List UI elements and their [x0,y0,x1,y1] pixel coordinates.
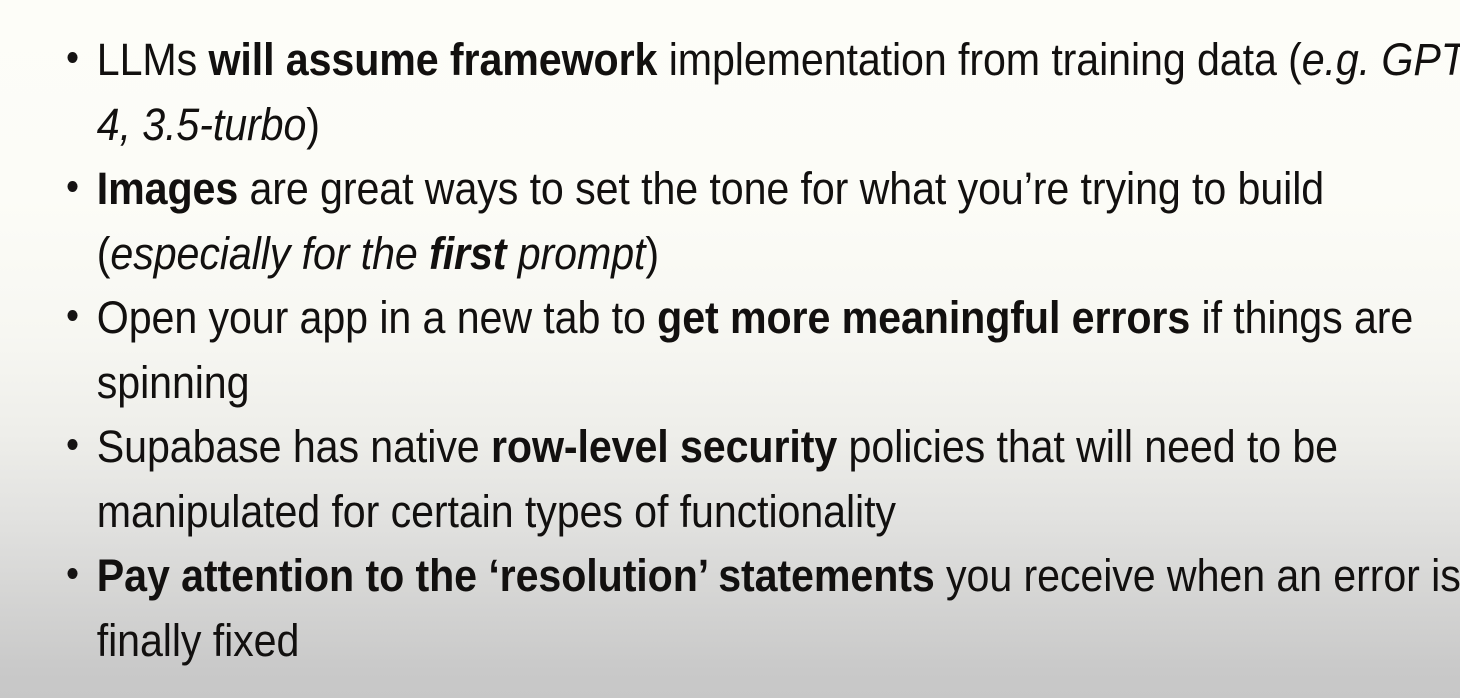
bullet-open-app-new-tab: Open your app in a new tab to get more m… [62,286,1460,415]
bullet-text: Pay attention to the ‘resolution’ statem… [97,550,1460,666]
bullet-resolution-statements: Pay attention to the ‘resolution’ statem… [62,544,1460,673]
text-run: LLMs [97,34,209,85]
bullet-dot-icon [67,439,77,450]
text-run: row-level security [491,421,837,472]
bullet-supabase-row-level-security: Supabase has native row-level security p… [62,415,1460,544]
text-run: first [429,228,506,279]
bullet-text: Images are great ways to set the tone fo… [97,163,1324,279]
bullet-text: Open your app in a new tab to get more m… [97,292,1413,408]
text-run: will assume framework [208,34,657,85]
text-run: especially for the [110,228,429,279]
bullet-dot-icon [67,181,77,192]
bullet-list: LLMs will assume framework implementatio… [0,0,1460,673]
text-run: ) [306,99,320,150]
text-run: implementation from training data ( [657,34,1301,85]
text-run: Open your app in a new tab to [97,292,657,343]
slide-canvas: LLMs will assume framework implementatio… [0,0,1460,698]
text-run: ) [645,228,659,279]
bullet-images-set-tone: Images are great ways to set the tone fo… [62,157,1460,286]
text-run: Pay attention to the ‘resolution’ statem… [97,550,935,601]
bullet-text: LLMs will assume framework implementatio… [97,34,1460,150]
text-run: get more meaningful errors [657,292,1190,343]
bullet-dot-icon [67,310,77,321]
bullet-llms-assume-framework: LLMs will assume framework implementatio… [62,28,1460,157]
bullet-text: Supabase has native row-level security p… [97,421,1338,537]
text-run: Supabase has native [97,421,491,472]
text-run: Images [97,163,238,214]
bullet-dot-icon [67,52,77,63]
text-run: prompt [506,228,645,279]
bullet-dot-icon [67,568,77,579]
